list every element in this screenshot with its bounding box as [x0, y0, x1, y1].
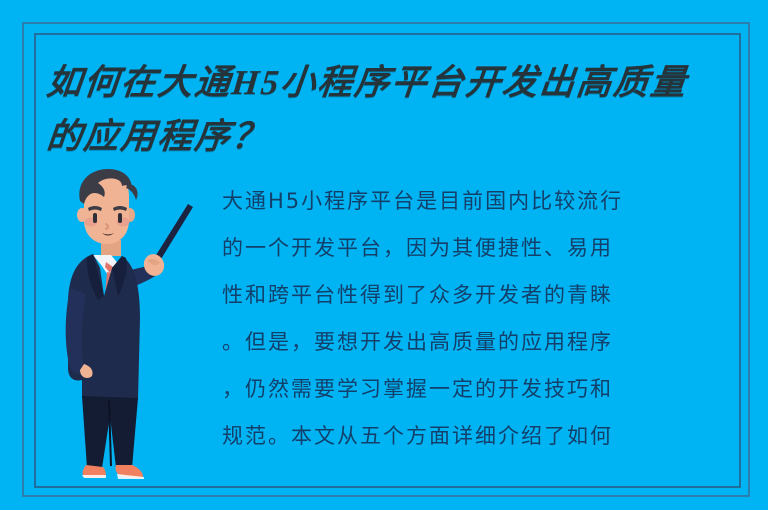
suit-jacket — [66, 254, 140, 400]
title-line-2: 的应用程序？ — [44, 110, 740, 164]
businessman-with-pointer-illustration — [60, 168, 215, 493]
shoes — [82, 465, 144, 479]
body-line-5: ，仍然需要学习掌握一定的开发技巧和 — [222, 366, 727, 413]
body-line-4: 。但是，要想开发出高质量的应用程序 — [222, 319, 727, 366]
pointer-stick-icon — [153, 204, 193, 264]
body-line-1: 大通H5小程序平台是目前国内比较流行 — [222, 178, 727, 225]
poster-body-text: 大通H5小程序平台是目前国内比较流行 的一个开发平台，因为其便捷性、易用 性和跨… — [222, 178, 727, 460]
body-line-2: 的一个开发平台，因为其便捷性、易用 — [222, 225, 727, 272]
poster-title: 如何在大通H5小程序平台开发出高质量 的应用程序？ — [44, 56, 734, 164]
trousers — [82, 396, 138, 468]
body-line-6: 规范。本文从五个方面详细介绍了如何 — [222, 413, 727, 460]
body-line-3: 性和跨平台性得到了众多开发者的青睐 — [222, 272, 727, 319]
poster-canvas: 如何在大通H5小程序平台开发出高质量 的应用程序？ 大通H5小程序平台是目前国内… — [0, 0, 768, 510]
head — [77, 169, 138, 244]
title-line-1: 如何在大通H5小程序平台开发出高质量 — [44, 56, 740, 110]
